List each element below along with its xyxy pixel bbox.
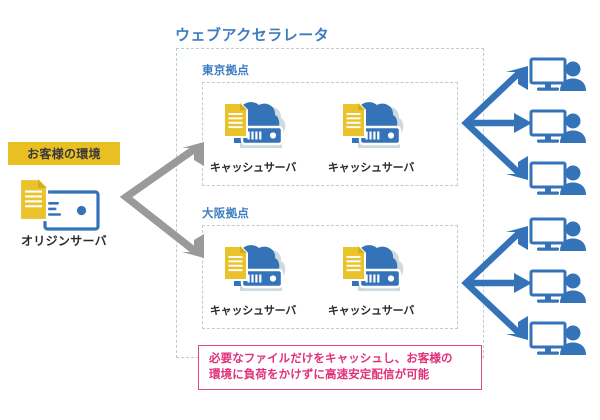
client-1[interactable] [528,55,586,97]
cache-server-icon [336,239,406,301]
cache-server-label: キャッシュサーバ [205,159,301,175]
benefit-note: 必要なファイルだけをキャッシュし、お客様の 環境に負荷をかけずに高速安定配信が可… [198,345,482,390]
user-monitor-icon [528,55,586,97]
client-3[interactable] [528,159,586,201]
cache-server-osaka-2[interactable]: キャッシュサーバ [336,239,406,301]
benefit-note-line-2: 環境に負荷をかけずに高速安定配信が可能 [209,367,473,383]
region-title-tokyo: 東京拠点 [202,62,249,78]
origin-to-accelerator-connector [118,140,218,270]
user-monitor-icon [528,215,586,257]
cache-server-label: キャッシュサーバ [323,302,419,318]
cache-server-osaka-1[interactable]: キャッシュサーバ [218,239,288,301]
benefit-note-line-1: 必要なファイルだけをキャッシュし、お客様の [209,351,473,367]
user-monitor-icon [528,159,586,201]
origin-server[interactable] [16,175,108,233]
user-monitor-icon [528,107,586,149]
diagram-canvas: ウェブアクセラレータ 東京拠点 キャッシュ [0,0,600,420]
client-4[interactable] [528,215,586,257]
origin-server-label: オリジンサーバ [8,232,120,249]
accelerator-title: ウェブアクセラレータ [175,24,329,45]
cache-server-icon [218,239,288,301]
client-2[interactable] [528,107,586,149]
user-monitor-icon [528,267,586,309]
cache-server-label: キャッシュサーバ [323,159,419,175]
user-monitor-icon [528,319,586,361]
origin-server-icon [16,175,108,233]
cache-server-icon [336,96,406,158]
client-6[interactable] [528,319,586,361]
cache-server-tokyo-1[interactable]: キャッシュサーバ [218,96,288,158]
cache-server-tokyo-2[interactable]: キャッシュサーバ [336,96,406,158]
cache-server-icon [218,96,288,158]
gray-branch-arrow-icon [118,140,218,270]
client-5[interactable] [528,267,586,309]
customer-environment-badge: お客様の環境 [8,142,120,165]
cache-server-label: キャッシュサーバ [205,302,301,318]
